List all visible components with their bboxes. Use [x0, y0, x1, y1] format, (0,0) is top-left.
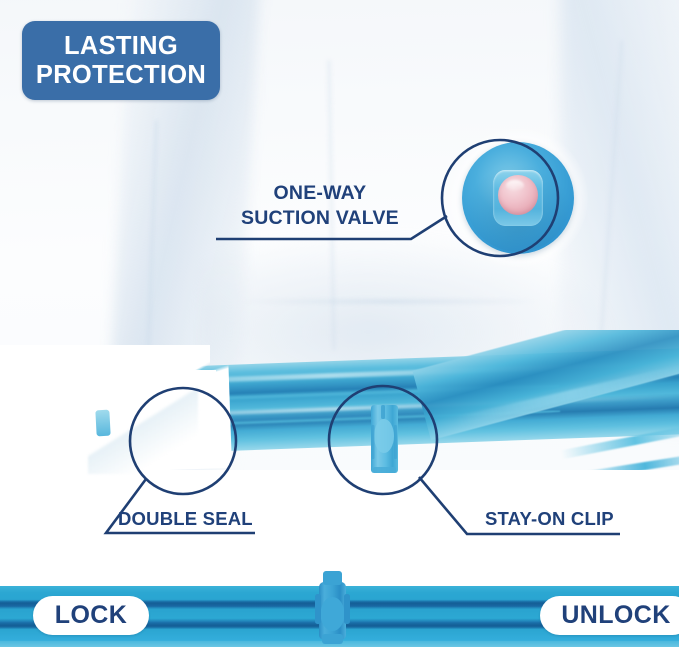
valve-callout-circle [442, 140, 558, 256]
lock-bar-slider-clip [313, 562, 352, 647]
lock-pill: LOCK [33, 596, 149, 635]
badge-line-2: PROTECTION [36, 61, 206, 90]
valve-label-line2: SUCTION VALVE [241, 206, 399, 231]
unlock-pill: UNLOCK [540, 596, 679, 635]
lasting-protection-badge: LASTING PROTECTION [22, 21, 220, 100]
double-seal-callout-circle [130, 388, 236, 494]
callout-label-valve: ONE-WAY SUCTION VALVE [241, 181, 399, 231]
callout-label-double-seal: DOUBLE SEAL [118, 508, 253, 530]
lock-label: LOCK [55, 601, 127, 630]
badge-line-1: LASTING [64, 32, 178, 61]
lock-bar-clip-shape [313, 562, 352, 647]
valve-label-line1: ONE-WAY [241, 181, 399, 206]
callout-label-stay-on-clip: STAY-ON CLIP [485, 508, 614, 530]
unlock-label: UNLOCK [561, 601, 670, 630]
product-infographic: ONE-WAY SUCTION VALVE DOUBLE SEAL STAY-O… [0, 0, 679, 647]
